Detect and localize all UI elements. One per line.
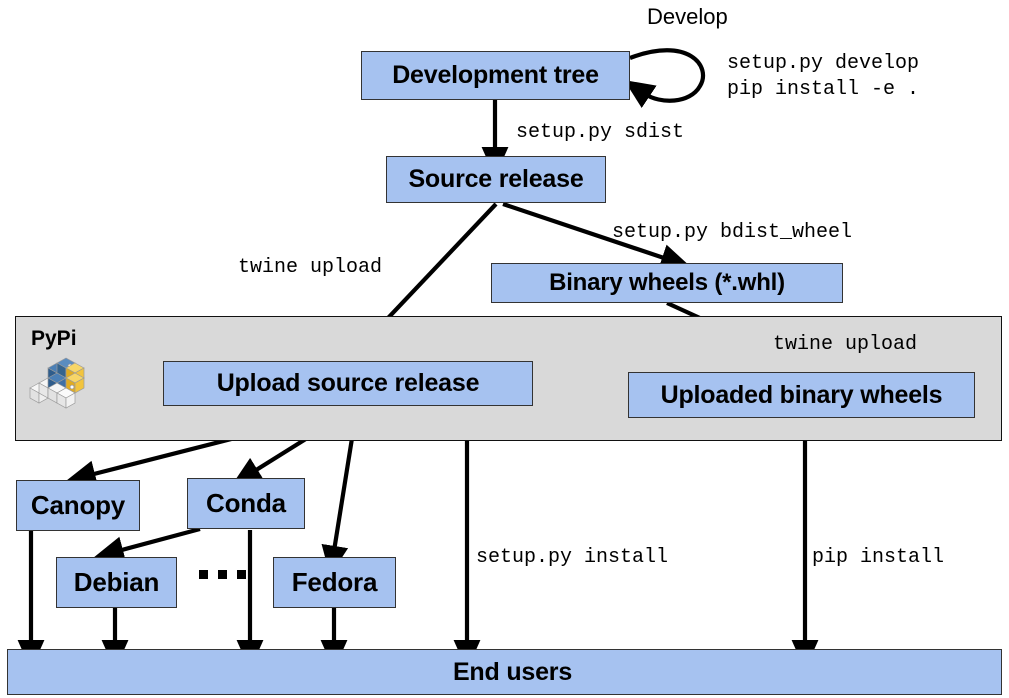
ellipsis-dots <box>199 570 246 579</box>
label-develop-cmd-line2: pip install -e . <box>727 78 919 101</box>
label-twine-upload-source: twine upload <box>238 255 382 281</box>
label-develop: Develop <box>647 4 728 30</box>
node-source-release[interactable]: Source release <box>386 156 606 203</box>
node-end-users[interactable]: End users <box>7 649 1002 695</box>
label-setup-py-sdist: setup.py sdist <box>516 120 684 146</box>
diagram-canvas: PyPi <box>0 0 1009 698</box>
label-twine-upload-wheels: twine upload <box>773 332 917 358</box>
label-pip-install: pip install <box>812 545 944 571</box>
node-development-tree[interactable]: Development tree <box>361 51 630 100</box>
node-canopy[interactable]: Canopy <box>16 480 140 531</box>
label-setup-py-bdist-wheel: setup.py bdist_wheel <box>612 220 852 246</box>
dot-3 <box>237 570 246 579</box>
node-conda[interactable]: Conda <box>187 478 305 529</box>
node-debian[interactable]: Debian <box>56 557 177 608</box>
label-setup-py-install: setup.py install <box>476 545 668 571</box>
label-develop-commands: setup.py developpip install -e . <box>727 51 919 102</box>
label-develop-cmd-line1: setup.py develop <box>727 52 919 75</box>
node-fedora[interactable]: Fedora <box>273 557 396 608</box>
pypi-python-cubes-logo <box>28 356 90 410</box>
pypi-panel-title: PyPi <box>31 327 77 351</box>
dot-2 <box>218 570 227 579</box>
node-uploaded-binary-wheels[interactable]: Uploaded binary wheels <box>628 372 975 418</box>
dot-1 <box>199 570 208 579</box>
node-upload-source-release[interactable]: Upload source release <box>163 361 533 406</box>
node-binary-wheels[interactable]: Binary wheels (*.whl) <box>491 263 843 303</box>
